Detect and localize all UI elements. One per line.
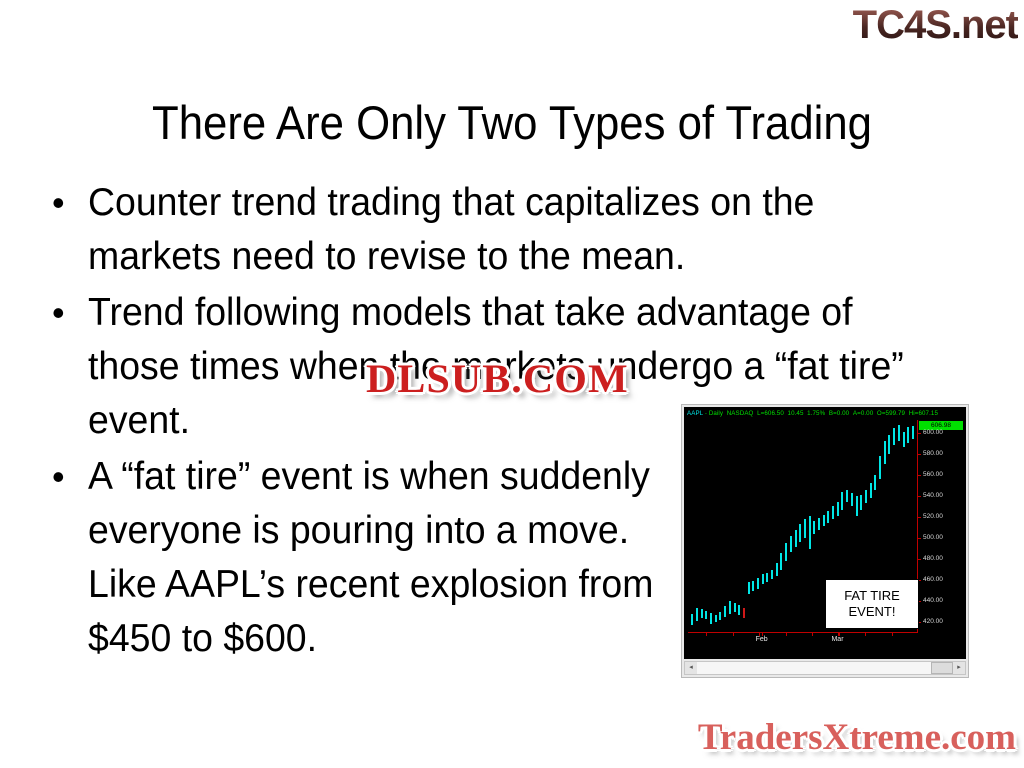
candlestick-bar: [752, 581, 754, 590]
price-axis-label: 500.00: [923, 534, 943, 542]
bullet-text: Counter trend trading that capitalizes o…: [88, 176, 946, 284]
chart-header-quote-line: AAPL - Daily NASDAQ L=606.50 10.45 1.75%…: [687, 408, 964, 419]
candlestick-bar: [743, 608, 745, 619]
candlestick-bar: [893, 428, 895, 445]
time-axis-tick: [786, 633, 787, 636]
bullet-text: A “fat tire” event is when suddenly ever…: [88, 450, 664, 666]
candlestick-bar: [738, 605, 740, 616]
candlestick-bar: [729, 601, 731, 614]
candlestick-bar: [813, 521, 815, 534]
chart-change-percent: 1.75%: [807, 410, 825, 417]
chart-open: O=599.79: [877, 410, 905, 417]
candlestick-bar: [818, 518, 820, 530]
candlestick-bar: [912, 426, 914, 439]
candlestick-bar: [799, 524, 801, 542]
candlestick-bar: [851, 493, 853, 507]
dlsub-watermark: DLSUB.COM: [366, 357, 629, 401]
candlestick-bar: [888, 435, 890, 454]
candlestick-bar: [710, 613, 712, 624]
candlestick-bar: [715, 615, 717, 622]
time-axis-tick: [865, 633, 866, 636]
tradersxtreme-brand-logo: TradersXtreme.com: [698, 716, 1016, 760]
time-axis-tick: [892, 633, 893, 636]
candlestick-bar: [903, 432, 905, 448]
candlestick-bar: [785, 543, 787, 561]
price-axis-tick: [918, 454, 921, 455]
chart-high: Hi=607.15: [909, 410, 938, 417]
price-axis-tick: [918, 433, 921, 434]
price-axis-label: 420.00: [923, 618, 943, 626]
callout-line-2: EVENT!: [849, 604, 896, 620]
candlestick-bar: [865, 490, 867, 504]
price-axis-tick: [918, 496, 921, 497]
candlestick-bar: [837, 502, 839, 516]
candlestick-bar: [748, 582, 750, 594]
page-title: There Are Only Two Types of Trading: [36, 95, 988, 151]
chart-last-price: L=606.50: [757, 410, 784, 417]
time-axis-tick: [812, 633, 813, 636]
candlestick-bar: [874, 475, 876, 490]
scrollbar-thumb[interactable]: [931, 662, 953, 674]
time-axis-tick: [839, 633, 840, 636]
price-axis-label: 600.00: [923, 429, 943, 437]
list-item: • Counter trend trading that capitalizes…: [52, 176, 982, 284]
time-axis-label: Feb: [756, 635, 768, 645]
price-axis-label: 460.00: [923, 576, 943, 584]
candlestick-bar: [757, 578, 759, 589]
candlestick-bar: [719, 612, 721, 620]
time-axis-tick: [759, 633, 760, 636]
fat-tire-event-callout: FAT TIRE EVENT!: [825, 579, 919, 629]
bullet-marker-icon: •: [52, 286, 88, 340]
time-axis-tick: [762, 633, 763, 636]
candlestick-bar: [724, 606, 726, 618]
time-axis: FebMar: [688, 632, 918, 647]
candlestick-bar: [898, 425, 900, 441]
candlestick-bar: [827, 511, 829, 524]
candlestick-bar: [809, 516, 811, 549]
candlestick-bar: [776, 563, 778, 576]
candlestick-bar: [884, 441, 886, 464]
price-axis: 606.98 600.00580.00560.00540.00520.00500…: [917, 420, 966, 633]
candlestick-bar: [780, 553, 782, 570]
chart-ask: A=0.00: [853, 410, 873, 417]
candlestick-bar: [860, 495, 862, 510]
candlestick-bar: [696, 608, 698, 622]
time-axis-tick: [706, 633, 707, 636]
time-axis-tick: [733, 633, 734, 636]
candlestick-bar: [762, 574, 764, 585]
price-axis-tick: [918, 538, 921, 539]
chart-horizontal-scrollbar[interactable]: ◂ ▸: [684, 661, 966, 675]
price-axis-tick: [918, 475, 921, 476]
candlestick-bar: [823, 515, 825, 527]
price-axis-label: 520.00: [923, 513, 943, 521]
chart-bid: B=0.00: [829, 410, 849, 417]
chart-interval: Daily: [709, 410, 723, 417]
tc4s-brand-logo: TC4S.net: [853, 2, 1018, 48]
chart-symbol: AAPL: [687, 410, 703, 417]
chart-exchange: NASDAQ: [727, 410, 754, 417]
candlestick-bar: [705, 611, 707, 619]
candlestick-bar: [870, 483, 872, 498]
chart-plot-frame[interactable]: AAPL - Daily NASDAQ L=606.50 10.45 1.75%…: [684, 407, 966, 659]
candlestick-bar: [771, 570, 773, 579]
candlestick-bar: [841, 492, 843, 510]
candlestick-bar: [795, 530, 797, 547]
callout-line-1: FAT TIRE: [844, 588, 900, 604]
candlestick-bar: [832, 506, 834, 519]
candlestick-bar: [790, 536, 792, 552]
candlestick-bar: [701, 609, 703, 618]
candlestick-bar: [856, 496, 858, 516]
candlestick-bar: [766, 573, 768, 582]
price-axis-tick: [918, 559, 921, 560]
candlestick-bar: [691, 614, 693, 625]
candlestick-bar: [846, 490, 848, 503]
aapl-chart-widget[interactable]: AAPL - Daily NASDAQ L=606.50 10.45 1.75%…: [681, 404, 969, 678]
price-axis-tick: [918, 517, 921, 518]
chart-header-separator: -: [705, 410, 707, 417]
price-axis-label: 580.00: [923, 450, 943, 458]
time-axis-label: Mar: [831, 635, 843, 645]
scrollbar-track[interactable]: [697, 662, 953, 674]
price-axis-label: 540.00: [923, 492, 943, 500]
price-axis-label: 560.00: [923, 471, 943, 479]
price-axis-label: 480.00: [923, 555, 943, 563]
candlestick-bar: [907, 427, 909, 443]
candlestick-bar: [734, 603, 736, 611]
bullet-marker-icon: •: [52, 450, 88, 504]
scroll-left-arrow-icon[interactable]: ◂: [685, 662, 697, 674]
candlestick-bar: [804, 519, 806, 538]
scroll-right-arrow-icon[interactable]: ▸: [953, 662, 965, 674]
bullet-marker-icon: •: [52, 176, 88, 230]
chart-change: 10.45: [788, 410, 804, 417]
candlestick-bar: [879, 456, 881, 479]
price-axis-label: 440.00: [923, 597, 943, 605]
